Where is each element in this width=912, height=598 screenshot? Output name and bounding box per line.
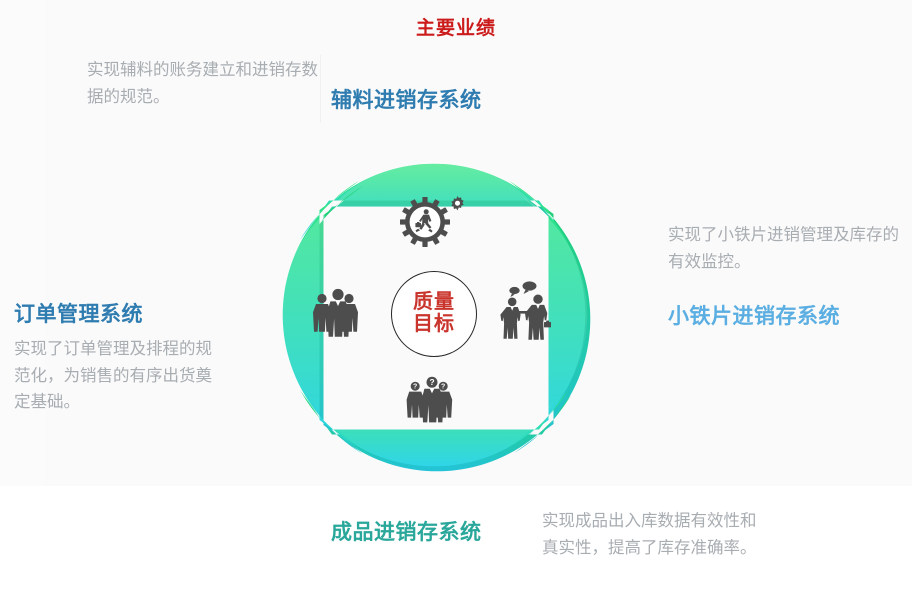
- center-hub-line2: 目标: [413, 314, 455, 336]
- team-question-icon: ? ? ?: [403, 371, 465, 425]
- segment-label-right[interactable]: 小铁片进销存系统: [668, 300, 840, 330]
- segment-label-bottom[interactable]: 成品进销存系统: [331, 516, 482, 546]
- svg-text:?: ?: [429, 377, 434, 387]
- segment-label-left[interactable]: 订单管理系统: [14, 298, 143, 328]
- person-in-gear-icon: [400, 191, 468, 253]
- svg-text:?: ?: [441, 384, 445, 391]
- segment-description-right: 实现了小铁片进销管理及库存的有效监控。: [668, 222, 908, 275]
- svg-text:?: ?: [413, 384, 417, 391]
- segment-label-top[interactable]: 辅料进销存系统: [331, 84, 482, 114]
- center-hub: 质量 目标: [391, 271, 477, 357]
- segment-description-top: 实现辅料的账务建立和进销存数据的规范。: [87, 57, 332, 110]
- diagram-canvas: 主要业绩: [0, 0, 912, 598]
- business-team-icon: [308, 285, 368, 343]
- segment-description-left: 实现了订单管理及排程的规范化，为销售的有序出货奠定基础。: [14, 336, 219, 416]
- handshake-conversation-icon: [500, 281, 558, 343]
- page-title: 主要业绩: [0, 13, 912, 40]
- segment-description-bottom: 实现成品出入库数据有效性和真实性，提高了库存准确率。: [542, 508, 772, 561]
- center-hub-line1: 质量: [413, 292, 455, 314]
